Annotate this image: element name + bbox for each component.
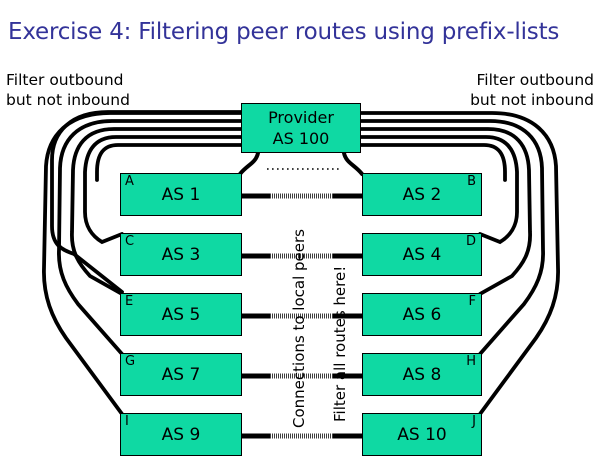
node-label-as-5: AS 5 <box>121 305 241 325</box>
provider-stub-right <box>344 153 362 174</box>
node-as-6[interactable]: F AS 6 <box>362 293 482 336</box>
slide-canvas: Exercise 4: Filtering peer routes using … <box>0 0 600 450</box>
vertical-label-filter-all-routes-here: Filter all routes here! <box>331 266 349 422</box>
node-provider[interactable]: Provider AS 100 <box>241 103 361 153</box>
node-label-as-8: AS 8 <box>363 365 481 385</box>
node-as-4[interactable]: D AS 4 <box>362 233 482 276</box>
node-label-as-4: AS 4 <box>363 245 481 265</box>
provider-line1: Provider <box>242 108 360 127</box>
node-label-as-2: AS 2 <box>363 185 481 205</box>
node-as-2[interactable]: B AS 2 <box>362 173 482 216</box>
node-as-3[interactable]: C AS 3 <box>120 233 242 276</box>
provider-line2: AS 100 <box>242 129 360 148</box>
node-label-as-9: AS 9 <box>121 425 241 445</box>
vertical-label-connections-to-local-peers: Connections to local peers <box>290 229 308 428</box>
node-as-8[interactable]: H AS 8 <box>362 353 482 396</box>
node-as-1[interactable]: A AS 1 <box>120 173 242 216</box>
node-as-7[interactable]: G AS 7 <box>120 353 242 396</box>
provider-stub-left <box>240 153 258 174</box>
node-label-as-3: AS 3 <box>121 245 241 265</box>
node-label-as-1: AS 1 <box>121 185 241 205</box>
node-as-5[interactable]: E AS 5 <box>120 293 242 336</box>
node-label-as-7: AS 7 <box>121 365 241 385</box>
node-label-as-6: AS 6 <box>363 305 481 325</box>
node-label-as-10: AS 10 <box>363 425 481 445</box>
